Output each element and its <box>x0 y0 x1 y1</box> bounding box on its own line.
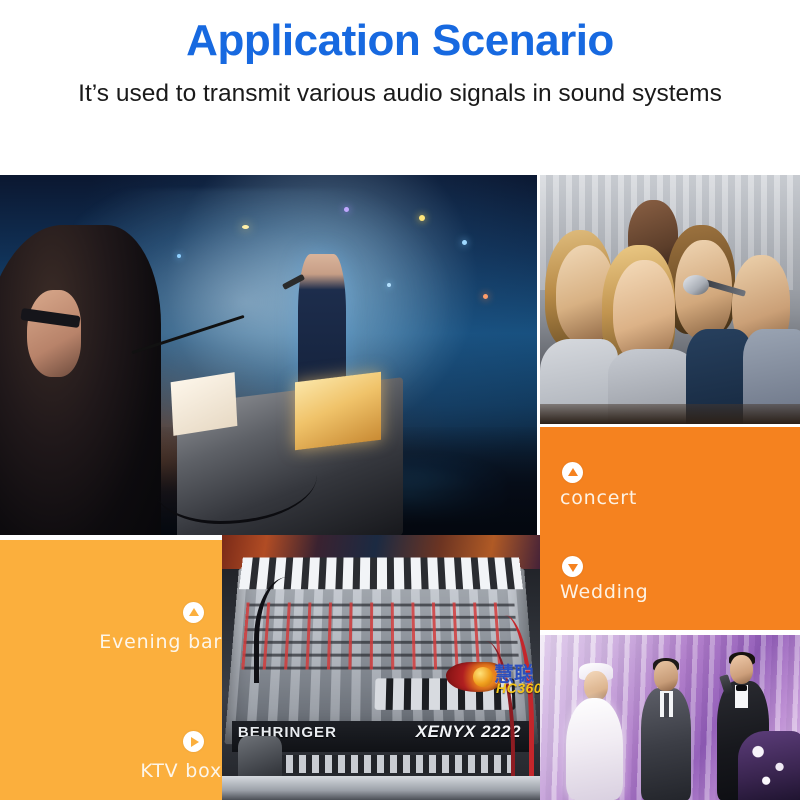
host-bowtie <box>736 685 748 692</box>
application-scenario-page: Application Scenario It’s used to transm… <box>0 0 800 800</box>
stage-light-spark <box>387 283 391 287</box>
photo-karaoke <box>540 175 800 424</box>
watermark-logo: 慧聪 HC360 <box>446 654 540 702</box>
stage-light-spark <box>419 215 425 221</box>
groom-tie <box>664 693 669 718</box>
karaoke-table <box>540 404 800 424</box>
scenario-label-text: KTV box <box>80 759 222 783</box>
desk-screen <box>295 371 381 450</box>
photo-concert <box>0 175 537 535</box>
mixer-floor <box>222 776 540 800</box>
bride-face <box>584 671 607 701</box>
scenario-label-text: Wedding <box>560 580 648 604</box>
photo-collage: BEHRINGER XENYX 2222 慧聪 HC360 <box>0 172 800 800</box>
page-title: Application Scenario <box>0 14 800 68</box>
wedding-flowers <box>738 731 800 800</box>
desk-papers <box>170 372 237 436</box>
scenario-label-ktv-box: KTV box <box>80 731 222 783</box>
concert-sound-engineer <box>0 225 161 535</box>
bride-dress <box>566 698 623 800</box>
engineer-face <box>27 290 81 376</box>
page-subtitle: It’s used to transmit various audio sign… <box>0 78 800 110</box>
karaoke-microphone <box>683 275 709 295</box>
host-face <box>730 655 753 685</box>
photo-wedding <box>540 635 800 800</box>
triangle-up-icon <box>183 602 204 623</box>
triangle-up-icon <box>562 462 583 483</box>
play-triangle-icon <box>183 731 204 752</box>
watermark-ball-icon <box>473 667 493 687</box>
groom-face <box>654 661 677 691</box>
triangle-down-icon <box>562 556 583 577</box>
scenario-label-wedding: Wedding <box>560 556 648 604</box>
scenario-label-concert: concert <box>560 462 637 510</box>
scenario-label-text: concert <box>560 486 637 510</box>
watermark-brand-code: HC360 <box>496 680 540 696</box>
scenario-label-text: Evening bar <box>80 630 222 654</box>
header: Application Scenario It’s used to transm… <box>0 0 800 172</box>
stage-light-spark <box>483 294 488 299</box>
scenario-label-evening-bar: Evening bar <box>80 602 222 654</box>
stage-light-spark <box>462 240 467 245</box>
